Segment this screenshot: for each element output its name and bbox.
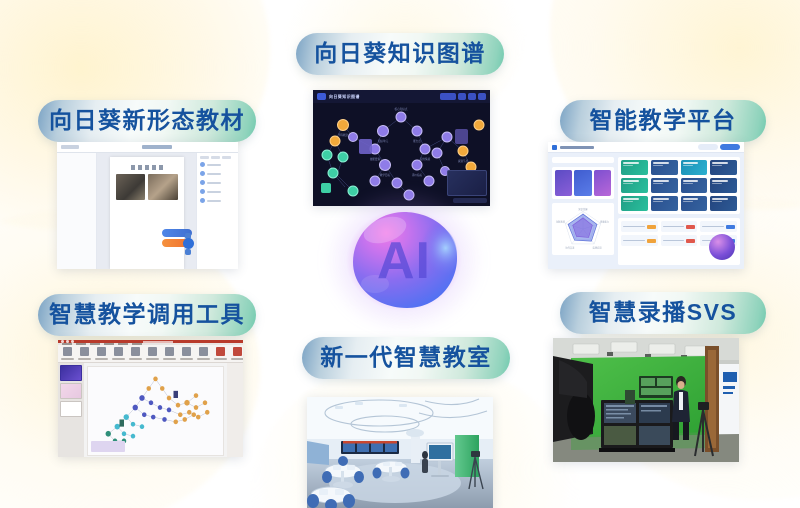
resource-card[interactable] — [681, 196, 708, 211]
knowledge-graph-toolbar[interactable] — [440, 93, 486, 100]
ribbon-toolbar[interactable] — [58, 345, 243, 363]
toolbar-button-primary[interactable] — [440, 93, 456, 100]
recording-studio-photo — [553, 338, 739, 462]
platform-right-column — [618, 157, 740, 265]
toolbar-button-a[interactable] — [458, 93, 466, 100]
highlight-card-group[interactable] — [555, 170, 611, 196]
assistant-fab-button[interactable] — [183, 238, 194, 249]
slide-thumbnail-panel[interactable] — [58, 363, 84, 457]
svg-text:知识掌握: 知识掌握 — [579, 207, 589, 211]
tool-icon-share[interactable] — [185, 249, 191, 255]
label-text-new-form-textbook: 向日葵新形态教材 — [49, 109, 245, 134]
svg-text:实践应用: 实践应用 — [593, 246, 602, 250]
toolbar-button-b[interactable] — [468, 93, 476, 100]
label-pill-new-form-textbook[interactable]: 向日葵新形态教材 — [38, 100, 256, 142]
ribbon-button[interactable] — [197, 347, 210, 360]
platform-logo-icon — [552, 145, 557, 150]
label-text-knowledge-graph: 向日葵知识图谱 — [314, 42, 486, 67]
comment-item[interactable] — [200, 198, 235, 203]
screenshot-card-smart-recording-svs[interactable] — [553, 338, 739, 462]
app-logo-icon — [317, 93, 326, 100]
resource-card[interactable] — [651, 160, 678, 175]
resource-card[interactable] — [681, 160, 708, 175]
svg-text:思维能力: 思维能力 — [600, 219, 610, 223]
smart-classroom-photo — [307, 397, 493, 508]
platform-left-column: 知识掌握思维能力 实践应用协作交流创新素养 — [552, 157, 614, 265]
label-pill-smart-teaching-tools[interactable]: 智慧教学调用工具 — [38, 294, 256, 336]
svg-text:资源节点: 资源节点 — [458, 159, 469, 163]
svg-text:知识单元: 知识单元 — [378, 139, 389, 143]
label-text-smart-teaching-platform: 智能教学平台 — [590, 109, 737, 134]
resource-grid-panel — [618, 157, 740, 214]
svg-text:评价指标: 评价指标 — [412, 173, 423, 177]
competency-radar-panel: 知识掌握思维能力 实践应用协作交流创新素养 — [552, 203, 614, 255]
reader-page — [110, 157, 184, 269]
toolbar-button-c[interactable] — [478, 93, 486, 100]
label-text-next-gen-classroom: 新一代智慧教室 — [320, 346, 492, 371]
ribbon-button[interactable] — [61, 347, 74, 360]
reader-back-button[interactable] — [61, 145, 79, 149]
ribbon-button[interactable] — [78, 347, 91, 360]
label-pill-smart-teaching-platform[interactable]: 智能教学平台 — [560, 100, 766, 142]
reader-header — [57, 142, 238, 153]
svg-text:教学目标: 教学目标 — [380, 173, 391, 177]
ribbon-button[interactable] — [214, 347, 227, 360]
comment-item[interactable] — [200, 189, 235, 194]
resource-card[interactable] — [651, 196, 678, 211]
knowledge-graph-titlebar: 向日葵知识图谱 — [313, 90, 490, 103]
format-sidebar[interactable] — [227, 363, 243, 457]
screenshot-card-next-gen-classroom[interactable] — [307, 397, 493, 508]
product-matrix-canvas: 向日葵知识图谱 向日葵知识图谱 — [0, 0, 800, 508]
label-text-smart-recording-svs: 智慧录播SVS — [589, 301, 738, 326]
ribbon-button[interactable] — [129, 347, 142, 360]
label-pill-next-gen-classroom[interactable]: 新一代智慧教室 — [302, 337, 510, 379]
screenshot-card-smart-teaching-platform[interactable]: 知识掌握思维能力 实践应用协作交流创新素养 — [548, 142, 744, 269]
course-info-panel — [552, 157, 614, 163]
resource-card[interactable] — [651, 178, 678, 193]
platform-header — [548, 142, 744, 153]
teaching-platform-app: 知识掌握思维能力 实践应用协作交流创新素养 — [548, 142, 744, 269]
page-figure — [148, 174, 178, 200]
reader-page-viewport[interactable] — [97, 153, 196, 269]
reader-body — [57, 153, 238, 269]
avatar — [200, 198, 205, 203]
label-pill-smart-recording-svs[interactable]: 智慧录播SVS — [560, 292, 766, 334]
activity-row[interactable] — [661, 235, 698, 246]
ribbon-button-close[interactable] — [231, 347, 243, 360]
zoom-slider[interactable] — [453, 198, 487, 203]
minimap-panel[interactable] — [447, 170, 487, 196]
avatar — [200, 180, 205, 185]
activity-row[interactable] — [661, 221, 698, 232]
activity-row[interactable] — [621, 235, 658, 246]
comment-item[interactable] — [200, 162, 235, 167]
svg-text:核心知识点: 核心知识点 — [395, 107, 408, 111]
resource-card[interactable] — [621, 178, 648, 193]
knowledge-graph-app-title: 向日葵知识图谱 — [329, 94, 360, 100]
ribbon-button[interactable] — [146, 347, 159, 360]
resource-card-grid[interactable] — [621, 160, 737, 211]
ai-orb-label: AI — [345, 209, 463, 313]
reader-comment-panel[interactable] — [196, 153, 238, 269]
svg-text:学科概念: 学科概念 — [338, 133, 349, 137]
ai-assistant-orb-icon[interactable] — [709, 234, 735, 260]
label-text-smart-teaching-tools: 智慧教学调用工具 — [49, 303, 245, 328]
avatar — [200, 162, 205, 167]
activity-row[interactable] — [621, 221, 658, 232]
page-formula — [116, 165, 178, 170]
slide-legend — [91, 441, 125, 452]
screenshot-card-new-form-textbook[interactable] — [57, 142, 238, 269]
reader-outline-sidebar[interactable] — [57, 153, 97, 269]
presentation-app — [58, 340, 243, 457]
activity-row[interactable] — [700, 221, 737, 232]
ribbon-button[interactable] — [95, 347, 108, 360]
radar-chart: 知识掌握思维能力 实践应用协作交流创新素养 — [555, 206, 611, 252]
ribbon-button[interactable] — [112, 347, 125, 360]
platform-title — [560, 146, 594, 149]
comment-item[interactable] — [200, 180, 235, 185]
header-button-primary[interactable] — [720, 144, 740, 150]
resource-card[interactable] — [710, 178, 737, 193]
resource-card[interactable] — [681, 178, 708, 193]
ribbon-button[interactable] — [163, 347, 176, 360]
comment-panel-tabs[interactable] — [200, 156, 235, 159]
label-pill-knowledge-graph[interactable]: 向日葵知识图谱 — [296, 33, 504, 75]
ai-orb-container: AI — [345, 208, 463, 312]
screenshot-card-smart-teaching-tools[interactable] — [58, 340, 243, 457]
highlight-card[interactable] — [594, 170, 611, 196]
slide-thumbnail-selected[interactable] — [60, 365, 82, 381]
slide-canvas[interactable] — [87, 366, 224, 456]
highlight-cards-panel — [552, 167, 614, 199]
svg-text:能力点: 能力点 — [413, 139, 421, 143]
textbook-reader-app — [57, 142, 238, 269]
header-button-secondary[interactable] — [698, 144, 718, 150]
highlight-card[interactable] — [574, 170, 591, 196]
page-figure — [116, 174, 146, 200]
svg-text:创新素养: 创新素养 — [556, 219, 566, 223]
ribbon-button[interactable] — [180, 347, 193, 360]
slide-thumbnail[interactable] — [60, 383, 82, 399]
avatar — [200, 189, 205, 194]
resource-card[interactable] — [710, 160, 737, 175]
slide-thumbnail[interactable] — [60, 401, 82, 417]
svg-text:技能要素: 技能要素 — [370, 157, 381, 161]
platform-header-actions[interactable] — [698, 144, 740, 150]
highlight-card[interactable] — [555, 170, 572, 196]
svg-text:应用情境: 应用情境 — [420, 157, 431, 161]
presentation-body — [58, 363, 243, 457]
reader-doc-title — [142, 145, 172, 149]
resource-card[interactable] — [621, 160, 648, 175]
resource-card[interactable] — [710, 196, 737, 211]
platform-main: 知识掌握思维能力 实践应用协作交流创新素养 — [548, 153, 744, 269]
comment-item[interactable] — [200, 171, 235, 176]
page-figure-group — [116, 174, 178, 200]
avatar — [200, 171, 205, 176]
activity-list-panel — [618, 218, 740, 265]
svg-text:协作交流: 协作交流 — [565, 246, 575, 250]
resource-card[interactable] — [621, 196, 648, 211]
